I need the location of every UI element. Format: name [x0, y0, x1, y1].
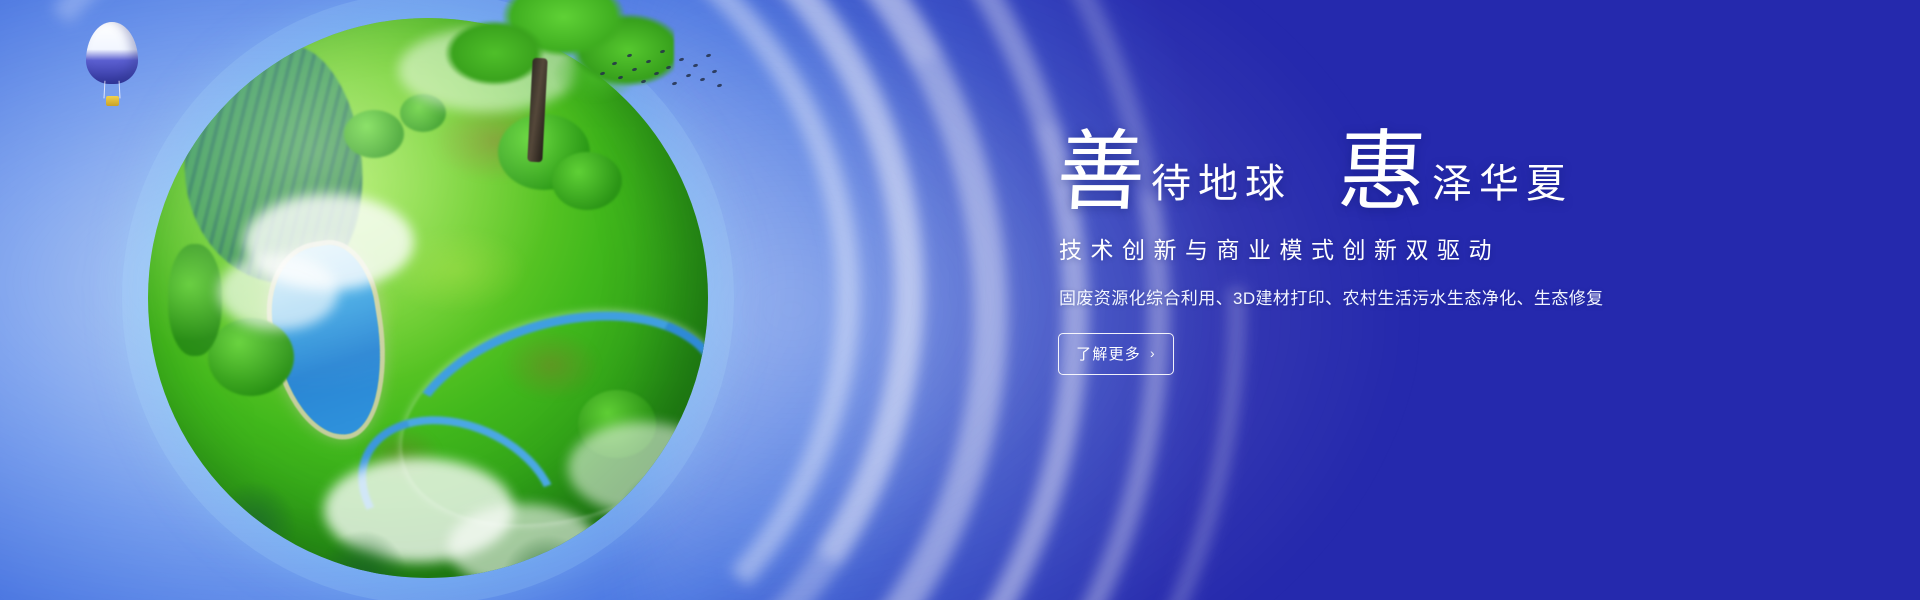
- lake-icon: [262, 239, 394, 443]
- learn-more-label: 了解更多: [1076, 343, 1141, 364]
- description-text: 固废资源化综合利用、3D建材打印、农村生活污水生态净化、生态修复: [1059, 284, 1757, 309]
- headline-group-1: 善 待地球: [1057, 132, 1292, 213]
- headline-big-1: 善: [1055, 134, 1151, 215]
- cloud-icon: [218, 254, 338, 330]
- hero-copy-block: 善 待地球 惠 泽华夏 技术创新与商业模式创新双驱动 固废资源化综合利用、3D建…: [1057, 132, 1757, 375]
- learn-more-button[interactable]: 了解更多 ›: [1058, 333, 1174, 375]
- chevron-right-icon: ›: [1150, 346, 1156, 360]
- shrub-icon: [208, 318, 294, 396]
- shrub-icon: [578, 390, 656, 458]
- headline-big-2: 惠: [1336, 134, 1432, 215]
- hero-banner: 善 待地球 惠 泽华夏 技术创新与商业模式创新双驱动 固废资源化综合利用、3D建…: [0, 0, 1920, 600]
- rim-tree-icon: [194, 470, 314, 578]
- globe-artwork: [148, 18, 728, 600]
- headline-group-2: 惠 泽华夏: [1338, 132, 1573, 213]
- shrub-icon: [168, 244, 222, 356]
- balloon-envelope: [86, 22, 138, 84]
- cloud-icon: [324, 458, 514, 562]
- subheadline: 技术创新与商业模式创新双驱动: [1059, 231, 1757, 265]
- cloud-icon: [244, 194, 414, 290]
- hot-air-balloon-icon: [86, 22, 142, 118]
- birds-flock-icon: [596, 42, 722, 94]
- headline-small-2: 泽华夏: [1432, 164, 1573, 213]
- river-branch-icon: [333, 386, 586, 578]
- page-title: 善 待地球 惠 泽华夏: [1057, 132, 1757, 213]
- headline-small-1: 待地球: [1151, 164, 1292, 213]
- rim-tree-icon: [594, 456, 708, 578]
- balloon-basket: [106, 96, 119, 106]
- shrub-icon: [552, 152, 622, 210]
- rim-tree-icon: [298, 518, 428, 578]
